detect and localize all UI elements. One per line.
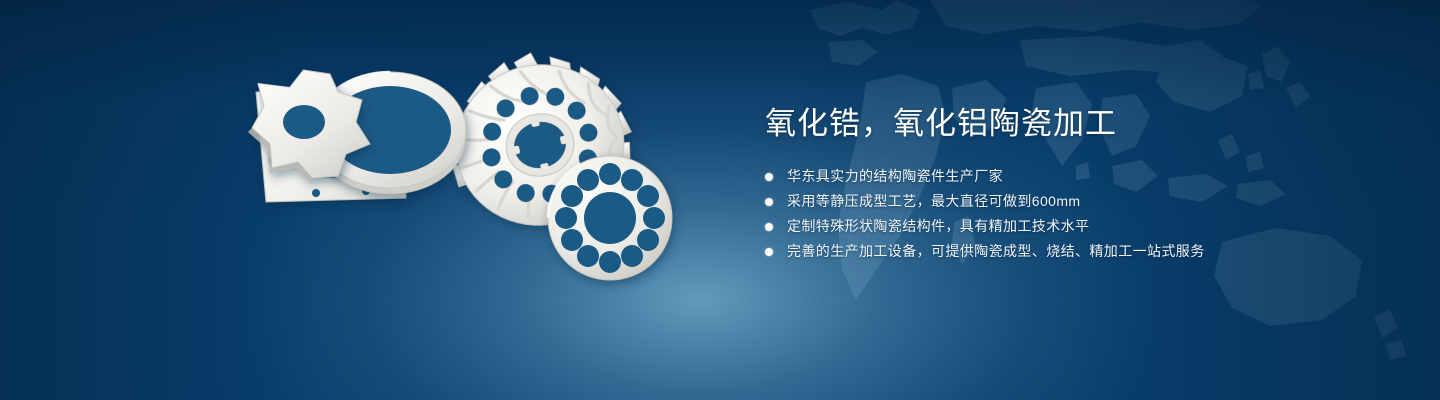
page-title: 氧化锆，氧化铝陶瓷加工 [765,104,1385,144]
bullet-dot-icon [765,223,773,231]
bullet-dot-icon [765,173,773,181]
feature-list: 华东具实力的结构陶瓷件生产厂家 采用等静压成型工艺，最大直径可做到600mm 定… [765,168,1385,260]
promo-banner: 氧化锆，氧化铝陶瓷加工 华东具实力的结构陶瓷件生产厂家 采用等静压成型工艺，最大… [0,0,1440,400]
bullet-dot-icon [765,248,773,256]
feature-text: 定制特殊形状陶瓷结构件，具有精加工技术水平 [787,218,1089,235]
list-item: 定制特殊形状陶瓷结构件，具有精加工技术水平 [765,218,1385,235]
banner-copy: 氧化锆，氧化铝陶瓷加工 华东具实力的结构陶瓷件生产厂家 采用等静压成型工艺，最大… [765,104,1385,268]
list-item: 采用等静压成型工艺，最大直径可做到600mm [765,193,1385,210]
bullet-dot-icon [765,198,773,206]
list-item: 完善的生产加工设备，可提供陶瓷成型、烧结、精加工一站式服务 [765,243,1385,260]
feature-text: 完善的生产加工设备，可提供陶瓷成型、烧结、精加工一站式服务 [787,243,1205,260]
ceramic-products-image [230,30,700,380]
ceramic-perforated-disc [548,156,672,280]
feature-text: 华东具实力的结构陶瓷件生产厂家 [787,168,1003,185]
list-item: 华东具实力的结构陶瓷件生产厂家 [765,168,1385,185]
feature-text: 采用等静压成型工艺，最大直径可做到600mm [787,193,1080,210]
